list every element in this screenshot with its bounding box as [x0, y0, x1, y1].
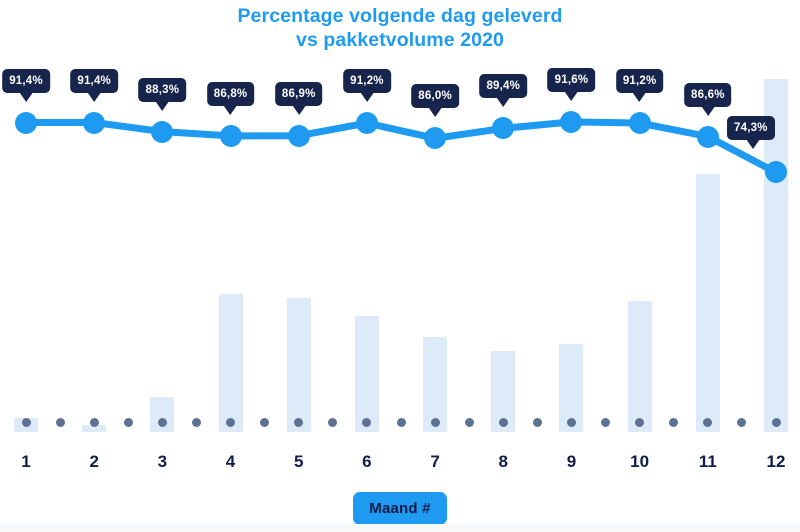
data-label-month-8: 89,4%	[479, 74, 527, 98]
x-tick-10: 10	[630, 452, 649, 472]
data-label-month-9: 91,6%	[548, 68, 596, 92]
x-tick-6: 6	[362, 452, 371, 472]
line-series-percentage	[0, 60, 800, 432]
data-label-month-6: 91,2%	[343, 69, 391, 93]
data-label-month-3: 88,3%	[139, 78, 187, 102]
line-point-month-2[interactable]	[83, 112, 105, 134]
line-point-month-1[interactable]	[15, 112, 37, 134]
line-point-month-6[interactable]	[356, 112, 378, 134]
x-tick-9: 9	[567, 452, 576, 472]
x-tick-7: 7	[430, 452, 439, 472]
line-point-month-5[interactable]	[288, 125, 310, 147]
data-label-month-12: 74,3%	[727, 116, 775, 140]
line-point-month-3[interactable]	[151, 121, 173, 143]
line-point-month-11[interactable]	[697, 126, 719, 148]
x-tick-2: 2	[89, 452, 98, 472]
data-label-month-11: 86,6%	[684, 83, 732, 107]
line-point-month-8[interactable]	[492, 117, 514, 139]
line-point-month-12[interactable]	[765, 161, 787, 183]
chart-title-line-1: Percentage volgende dag geleverd	[0, 4, 800, 28]
data-label-month-4: 86,8%	[207, 82, 255, 106]
chart-title-line-2: vs pakketvolume 2020	[0, 28, 800, 52]
x-tick-5: 5	[294, 452, 303, 472]
x-axis-tick-labels: 123456789101112	[0, 452, 800, 482]
x-tick-4: 4	[226, 452, 235, 472]
line-point-month-9[interactable]	[560, 111, 582, 133]
chart-root: Percentage volgende dag geleverd vs pakk…	[0, 0, 800, 532]
x-tick-3: 3	[158, 452, 167, 472]
line-point-month-7[interactable]	[424, 127, 446, 149]
data-label-month-1: 91,4%	[2, 69, 50, 93]
data-label-month-10: 91,2%	[616, 69, 664, 93]
footer-strip	[0, 524, 800, 532]
x-tick-12: 12	[767, 452, 786, 472]
data-label-month-5: 86,9%	[275, 82, 323, 106]
chart-title: Percentage volgende dag geleverd vs pakk…	[0, 4, 800, 52]
x-tick-1: 1	[21, 452, 30, 472]
data-label-month-7: 86,0%	[411, 84, 459, 108]
x-tick-8: 8	[499, 452, 508, 472]
x-axis-title-wrap: Maand #	[0, 492, 800, 525]
data-label-month-2: 91,4%	[70, 69, 118, 93]
plot-area: 91,4%91,4%88,3%86,8%86,9%91,2%86,0%89,4%…	[0, 60, 800, 432]
line-point-month-4[interactable]	[220, 125, 242, 147]
x-tick-11: 11	[699, 452, 717, 472]
line-path-svg	[0, 60, 800, 432]
x-axis-title-badge: Maand #	[353, 492, 446, 525]
line-point-month-10[interactable]	[629, 112, 651, 134]
